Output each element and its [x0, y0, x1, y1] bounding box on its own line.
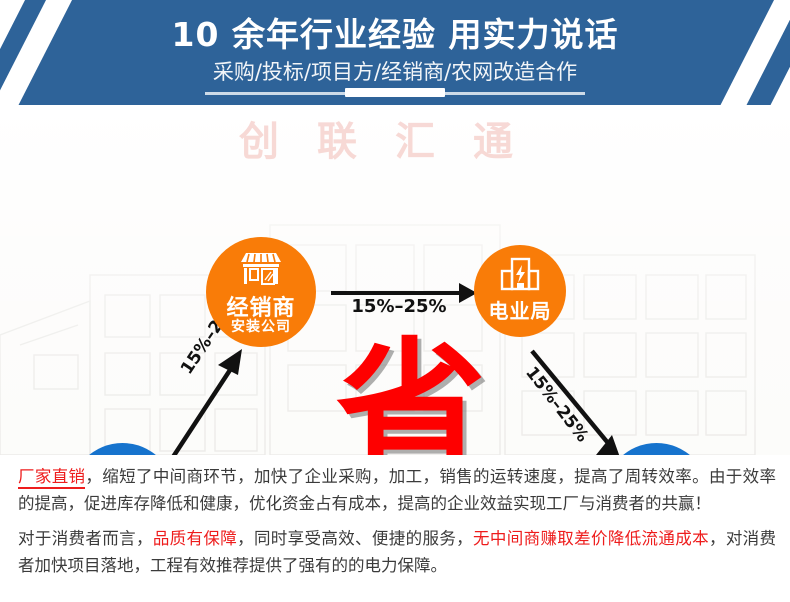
paragraph-one-highlight: 厂家直销	[18, 467, 85, 489]
shop-icon	[206, 251, 316, 290]
node-bureau[interactable]: 电业局	[474, 245, 566, 337]
paragraph-two-part2: ，同时享受高效、便捷的服务，	[237, 529, 473, 548]
infographic-page: 10 余年行业经验 用实力说话 采购/投标/项目方/经销商/农网改造合作	[0, 0, 790, 602]
header-title: 10 余年行业经验 用实力说话	[0, 8, 790, 56]
diagram-stage: 创联汇通 15%–25% 在这里省了中间环节，给消费者最大的价格空间 15%–2…	[0, 105, 790, 455]
background-watermark: 创联汇通	[0, 109, 790, 167]
bottom-description: 厂家直销，缩短了中间商环节，加快了企业采购，加工，销售的运转速度，提高了周转效率…	[0, 455, 790, 602]
paragraph-two: 对于消费者而言，品质有保障，同时享受高效、便捷的服务，无中间商赚取差价降低流通成…	[18, 525, 776, 579]
paragraph-one: 厂家直销，缩短了中间商环节，加快了企业采购，加工，销售的运转速度，提高了周转效率…	[18, 463, 776, 517]
header-banner: 10 余年行业经验 用实力说话 采购/投标/项目方/经销商/农网改造合作	[0, 0, 790, 105]
paragraph-two-part1: 对于消费者而言，	[18, 529, 153, 548]
node-dealer-sublabel: 安装公司	[206, 316, 316, 336]
power-building-icon	[474, 257, 566, 296]
paragraph-two-highlight-two: 无中间商赚取差价降低流通成本	[473, 529, 709, 548]
header-divider-center	[345, 88, 445, 97]
arrow-factory-to-dealer	[160, 345, 260, 455]
paragraph-two-highlight-one: 品质有保障	[153, 529, 237, 548]
node-dealer[interactable]: 经销商 安装公司	[206, 237, 316, 347]
arrow-dealer-to-bureau	[331, 291, 461, 295]
paragraph-one-text: ，缩短了中间商环节，加快了企业采购，加工，销售的运转速度，提高了周转效率。由于效…	[18, 467, 776, 513]
header-subtitle: 采购/投标/项目方/经销商/农网改造合作	[0, 56, 790, 86]
node-bureau-label: 电业局	[474, 295, 566, 324]
center-save-character: 省	[316, 337, 506, 455]
arrow-label-dealer-to-bureau: 15%–25%	[334, 296, 464, 317]
